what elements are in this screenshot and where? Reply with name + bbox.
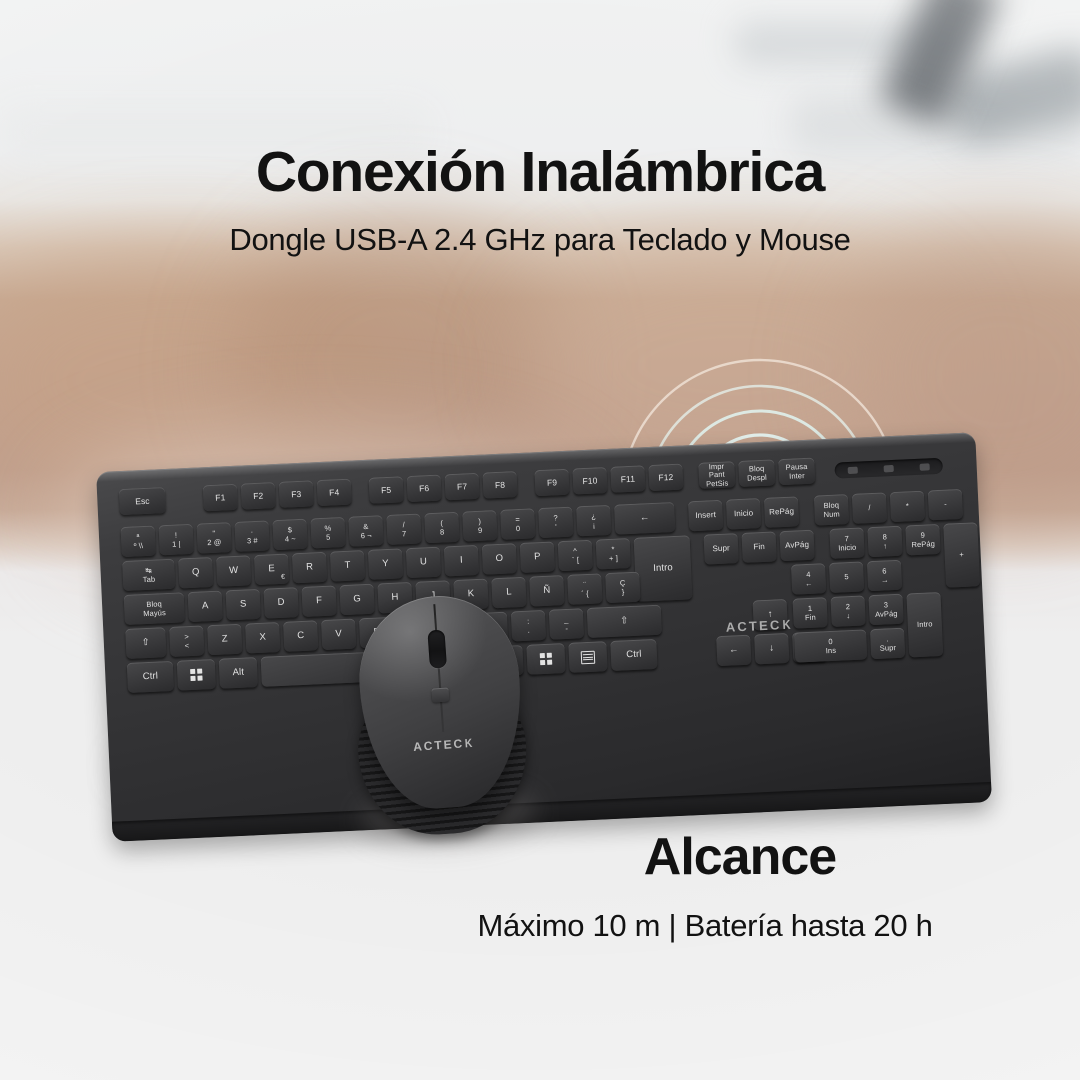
keyboard-indicator-leds [834, 458, 943, 479]
key-system-1[interactable]: BloqDespl [738, 459, 775, 487]
key-numpad-dot[interactable]: .Supr [870, 628, 905, 660]
key-numpad-5[interactable]: 5 [829, 561, 864, 593]
menu-icon [581, 650, 596, 664]
key-tab[interactable]: ↹ Tab [122, 559, 175, 591]
key-numpad-4[interactable]: 4← [791, 563, 826, 595]
key-num-3[interactable]: ·3 # [234, 520, 269, 552]
key-system-2[interactable]: PausaInter [778, 458, 815, 486]
key-backspace[interactable]: ← [614, 502, 675, 535]
indicator-led [848, 466, 858, 473]
mouse: ACTECK [339, 586, 542, 850]
mouse-brand-logo: ACTECK [413, 736, 475, 754]
key-p[interactable]: P [520, 541, 555, 573]
key-num-5[interactable]: %5 [310, 517, 345, 549]
key-numpad-2[interactable]: 2↓ [830, 595, 865, 627]
key-z[interactable]: Z [207, 624, 242, 656]
key-f10[interactable]: F10 [572, 467, 607, 495]
key-ctrl-right[interactable]: Ctrl [610, 639, 657, 671]
key-f5[interactable]: F5 [369, 476, 404, 504]
key-f4[interactable]: F4 [317, 479, 352, 507]
key-shift-right[interactable]: ⇧ [587, 605, 662, 638]
key-f9[interactable]: F9 [534, 469, 569, 497]
key-enter[interactable]: Intro [634, 535, 693, 601]
key-f[interactable]: F [301, 585, 336, 617]
key-num-6[interactable]: &6 ¬ [348, 515, 383, 547]
key-num-4[interactable]: $4 ~ [272, 519, 307, 551]
key-f1[interactable]: F1 [203, 484, 238, 512]
key-num-0[interactable]: ªº \\ [121, 526, 156, 558]
key-c[interactable]: C [283, 620, 318, 652]
range-title: Alcance [0, 827, 1080, 887]
key-ñ[interactable]: Ñ [529, 575, 564, 607]
page-title: Conexión Inalámbrica [0, 143, 1080, 203]
key-arrow-left[interactable]: ← [716, 635, 751, 667]
key-arrow-down[interactable]: ↓ [754, 633, 789, 665]
key-f7[interactable]: F7 [445, 473, 480, 501]
key-q[interactable]: Q [178, 557, 213, 589]
key-qextra-1[interactable]: *+ ] [596, 538, 631, 570]
key-num-7[interactable]: /7 [386, 513, 421, 545]
key-numpad-1[interactable]: 1Fin [793, 597, 828, 629]
key-system-0[interactable]: ImprPantPetSis [698, 461, 735, 489]
indicator-led [884, 464, 894, 471]
windows-icon [540, 653, 552, 665]
key-numpad--[interactable]: - [928, 489, 963, 521]
key-numpad-6[interactable]: 6→ [867, 560, 902, 592]
key-num-9[interactable]: )9 [462, 510, 497, 542]
key-avpág[interactable]: AvPág [779, 530, 814, 562]
key-w[interactable]: W [216, 555, 251, 587]
key-aextra-0[interactable]: ¨´ { [567, 573, 602, 605]
key-windows-right[interactable] [526, 643, 565, 675]
key-numpad-plus[interactable]: + [943, 522, 980, 587]
key-t[interactable]: T [330, 550, 365, 582]
key-angle[interactable]: >< [169, 625, 204, 657]
key-f3[interactable]: F3 [279, 480, 314, 508]
key-f6[interactable]: F6 [407, 475, 442, 503]
key-num-1[interactable]: !1 | [159, 524, 194, 556]
key-esc[interactable]: Esc [119, 487, 166, 515]
key-f2[interactable]: F2 [241, 482, 276, 510]
key-num-2[interactable]: "2 @ [197, 522, 232, 554]
page-subtitle: Dongle USB-A 2.4 GHz para Teclado y Mous… [0, 222, 1080, 258]
key-f12[interactable]: F12 [648, 464, 683, 492]
key-inicio[interactable]: Inicio [726, 498, 761, 530]
key-numpad-8[interactable]: 8↑ [867, 526, 902, 558]
key-numpad-0[interactable]: 0Ins [794, 629, 867, 662]
key-zextra-2[interactable]: _- [549, 608, 584, 640]
key-a[interactable]: A [188, 591, 223, 623]
key-capslock[interactable]: BloqMayús [124, 592, 185, 625]
key-numpad-7[interactable]: 7Inicio [829, 527, 864, 559]
mouse-dpi-button [431, 687, 449, 702]
key-o[interactable]: O [482, 543, 517, 575]
key-x[interactable]: X [245, 622, 280, 654]
key-num-11[interactable]: ?' [538, 507, 573, 539]
product-marketing-banner: Conexión Inalámbrica Dongle USB-A 2.4 GH… [0, 0, 1080, 1080]
key-numpad-intro[interactable]: Intro [906, 592, 943, 657]
key-r[interactable]: R [292, 552, 327, 584]
key-alt-left[interactable]: Alt [219, 657, 258, 689]
key-menu[interactable] [568, 641, 607, 673]
key-ctrl-left[interactable]: Ctrl [127, 661, 174, 693]
key-numpad-*[interactable]: * [890, 491, 925, 523]
keyboard-chassis: EscF1F2F3F4F5F6F7F8F9F10F11F12ImprPantPe… [96, 432, 992, 842]
key-num-8[interactable]: (8 [424, 512, 459, 544]
key-supr[interactable]: Supr [704, 533, 739, 565]
indicator-led [920, 463, 930, 470]
key-windows-left[interactable] [177, 659, 216, 691]
key-shift-left[interactable]: ⇧ [125, 627, 166, 659]
key-aextra-1[interactable]: Ç} [605, 572, 640, 604]
key-d[interactable]: D [264, 587, 299, 619]
key-y[interactable]: Y [368, 548, 403, 580]
range-subtitle: Máximo 10 m | Batería hasta 20 h [0, 908, 1080, 944]
key-numpad-Bloq[interactable]: BloqNum [814, 494, 849, 526]
key-num-12[interactable]: ¿¡ [576, 505, 611, 537]
key-s[interactable]: S [226, 589, 261, 621]
key-fin[interactable]: Fin [741, 531, 776, 563]
key-u[interactable]: U [406, 547, 441, 579]
keyboard: EscF1F2F3F4F5F6F7F8F9F10F11F12ImprPantPe… [96, 432, 992, 842]
mouse-scroll-wheel [427, 630, 447, 669]
key-num-10[interactable]: =0 [500, 508, 535, 540]
key-numpad-/[interactable]: / [852, 492, 887, 524]
windows-icon [190, 669, 202, 681]
key-f8[interactable]: F8 [482, 471, 517, 499]
key-insert[interactable]: Insert [688, 500, 723, 532]
key-qextra-0[interactable]: ^` [ [558, 540, 593, 572]
keyboard-brand-logo: ACTECK [725, 617, 793, 635]
key-numpad-9[interactable]: 9RePág [905, 524, 940, 556]
key-repág[interactable]: RePág [764, 496, 799, 528]
key-f11[interactable]: F11 [610, 465, 645, 493]
key-i[interactable]: I [444, 545, 479, 577]
key-e[interactable]: E€ [254, 554, 289, 586]
key-numpad-3[interactable]: 3AvPág [868, 594, 903, 626]
